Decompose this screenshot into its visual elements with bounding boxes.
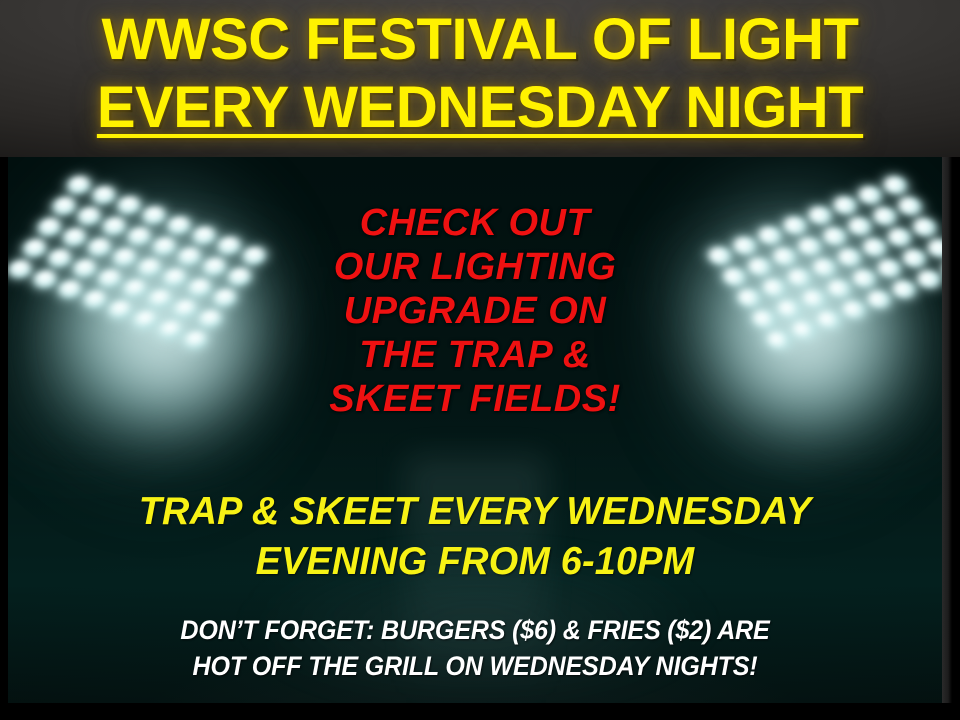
poster-border-right: [942, 157, 952, 703]
poster: WWSC FESTIVAL OF LIGHT EVERY WEDNESDAY N…: [0, 0, 960, 720]
announcement-text: CHECK OUT OUR LIGHTING UPGRADE ON THE TR…: [8, 201, 942, 421]
schedule-line-1: TRAP & SKEET EVERY WEDNESDAY: [22, 487, 928, 537]
announcement-line-5: SKEET FIELDS!: [8, 377, 942, 421]
poster-header: WWSC FESTIVAL OF LIGHT EVERY WEDNESDAY N…: [0, 0, 960, 157]
announcement-line-3: UPGRADE ON: [8, 289, 942, 333]
schedule-text: TRAP & SKEET EVERY WEDNESDAY EVENING FRO…: [8, 487, 942, 587]
header-title-group: WWSC FESTIVAL OF LIGHT EVERY WEDNESDAY N…: [0, 6, 960, 142]
schedule-line-2: EVENING FROM 6-10PM: [22, 537, 928, 587]
poster-border-left: [0, 157, 8, 703]
concessions-line-1: DON’T FORGET: BURGERS ($6) & FRIES ($2) …: [41, 612, 910, 648]
announcement-line-4: THE TRAP &: [8, 333, 942, 377]
header-title-line-1: WWSC FESTIVAL OF LIGHT: [0, 6, 960, 74]
concessions-text: DON’T FORGET: BURGERS ($6) & FRIES ($2) …: [8, 612, 942, 684]
header-title-line-2: EVERY WEDNESDAY NIGHT: [0, 74, 960, 142]
announcement-line-2: OUR LIGHTING: [8, 245, 942, 289]
poster-border-bottom: [0, 703, 960, 720]
concessions-line-2: HOT OFF THE GRILL ON WEDNESDAY NIGHTS!: [41, 648, 910, 684]
poster-body: CHECK OUT OUR LIGHTING UPGRADE ON THE TR…: [8, 157, 942, 703]
announcement-line-1: CHECK OUT: [8, 201, 942, 245]
